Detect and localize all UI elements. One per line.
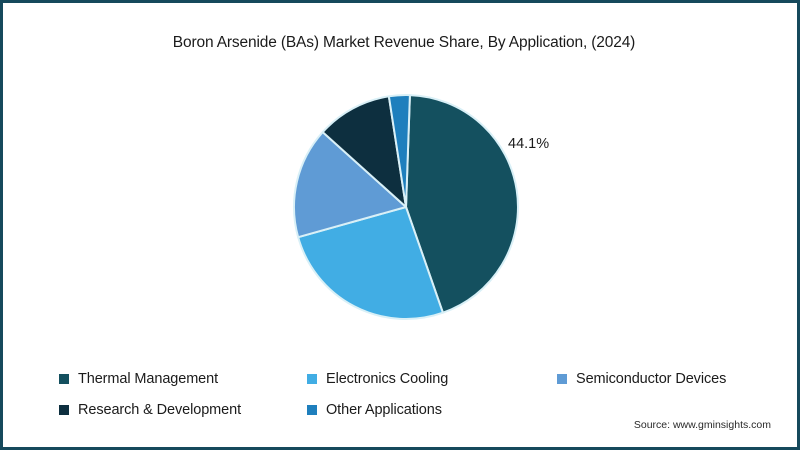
- pie-chart-svg: Thermal Management 44.1%Electronics Cool…: [289, 93, 519, 323]
- chart-frame: Boron Arsenide (BAs) Market Revenue Shar…: [0, 0, 800, 450]
- legend-item-semiconductor-devices[interactable]: Semiconductor Devices: [557, 371, 726, 387]
- legend-item-electronics-cooling[interactable]: Electronics Cooling: [307, 371, 448, 387]
- legend-item-research-development[interactable]: Research & Development: [59, 402, 241, 418]
- source-attribution: Source: www.gminsights.com: [634, 419, 771, 431]
- pie-slice-group: Thermal Management 44.1%Electronics Cool…: [294, 95, 518, 319]
- pie-value-label-thermal-management: 44.1%: [508, 136, 549, 152]
- legend-swatch-icon: [59, 374, 69, 384]
- legend-label: Electronics Cooling: [326, 371, 448, 387]
- legend-item-thermal-management[interactable]: Thermal Management: [59, 371, 218, 387]
- legend-label: Other Applications: [326, 402, 442, 418]
- legend-label: Research & Development: [78, 402, 241, 418]
- legend-swatch-icon: [557, 374, 567, 384]
- legend-label: Thermal Management: [78, 371, 218, 387]
- page-title: Boron Arsenide (BAs) Market Revenue Shar…: [7, 34, 800, 52]
- legend-swatch-icon: [307, 374, 317, 384]
- legend-label: Semiconductor Devices: [576, 371, 726, 387]
- legend-swatch-icon: [59, 405, 69, 415]
- pie-chart-area: Thermal Management 44.1%Electronics Cool…: [7, 93, 800, 355]
- legend-swatch-icon: [307, 405, 317, 415]
- legend-item-other-applications[interactable]: Other Applications: [307, 402, 442, 418]
- legend-row-1: Thermal Management Electronics Cooling S…: [7, 371, 800, 402]
- chart-inner-frame: Boron Arsenide (BAs) Market Revenue Shar…: [6, 6, 794, 444]
